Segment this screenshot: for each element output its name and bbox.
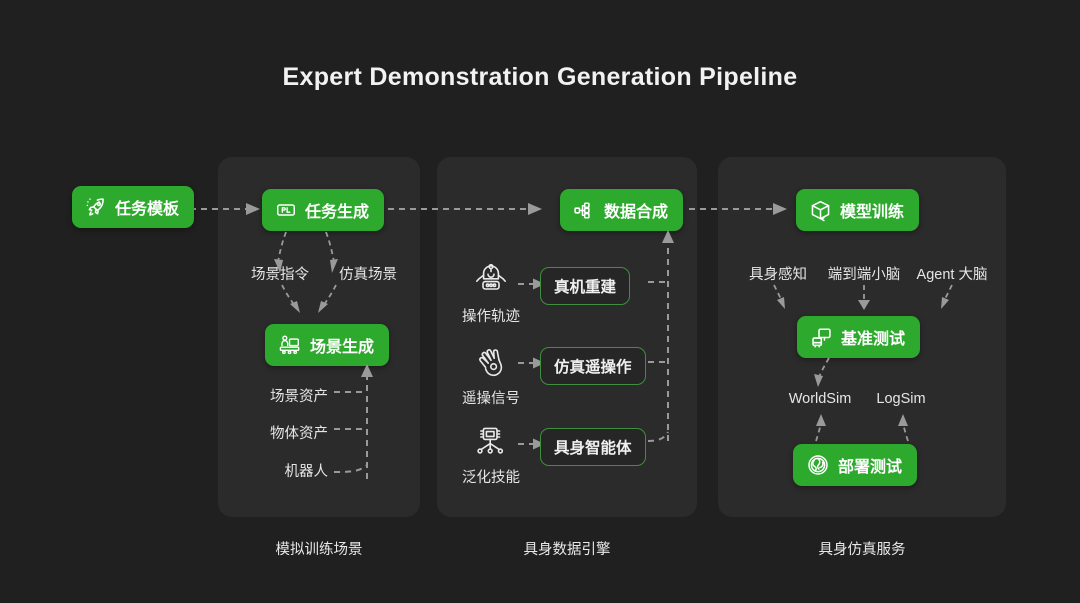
- caption-column-2: 具身数据引擎: [437, 538, 697, 559]
- pill-label: 部署测试: [838, 453, 902, 477]
- caption-column-3: 具身仿真服务: [718, 538, 1006, 559]
- label-generalization-skills: 泛化技能: [451, 466, 531, 487]
- benchmark-icon: [810, 326, 833, 349]
- pill-task-generation[interactable]: 任务生成: [262, 189, 384, 231]
- label-end-to-end-cerebellum: 端到端小脑: [818, 263, 910, 284]
- pill-deployment-test[interactable]: 部署测试: [793, 444, 917, 486]
- pill-label: 模型训练: [840, 198, 904, 222]
- caption-column-1: 模拟训练场景: [218, 538, 420, 559]
- box-simulated-teleoperation[interactable]: 仿真遥操作: [540, 347, 646, 385]
- box-label: 仿真遥操作: [554, 355, 632, 377]
- box-embodied-agent[interactable]: 具身智能体: [540, 428, 646, 466]
- scene-generation-icon: [278, 333, 302, 357]
- label-embodied-perception: 具身感知: [736, 263, 820, 284]
- box-real-machine-reconstruction[interactable]: 真机重建: [540, 267, 630, 305]
- label-simulation-scene: 仿真场景: [328, 263, 408, 284]
- pl-badge-icon: [275, 199, 297, 221]
- pill-label: 任务模板: [115, 195, 179, 219]
- agent-icon: [473, 425, 511, 463]
- data-synthesis-icon: [573, 199, 596, 222]
- label-scene-assets: 场景资产: [248, 385, 328, 406]
- label-scene-instruction: 场景指令: [240, 263, 320, 284]
- label-teleop-signal: 遥操信号: [451, 387, 531, 408]
- label-robot: 机器人: [248, 460, 328, 481]
- deploy-icon: [806, 453, 830, 477]
- pill-task-template[interactable]: 任务模板: [72, 186, 194, 228]
- page-title: Expert Demonstration Generation Pipeline: [0, 63, 1080, 92]
- pill-label: 任务生成: [305, 198, 369, 222]
- pill-scene-generation[interactable]: 场景生成: [265, 324, 389, 366]
- pill-label: 数据合成: [604, 198, 668, 222]
- pill-label: 基准测试: [841, 325, 905, 349]
- label-agent-brain: Agent 大脑: [903, 263, 1001, 284]
- label-operation-trajectory: 操作轨迹: [451, 305, 531, 326]
- label-worldsim: WorldSim: [778, 391, 862, 407]
- pill-benchmark-test[interactable]: 基准测试: [797, 316, 920, 358]
- glove-icon: [471, 347, 511, 385]
- box-label: 具身智能体: [554, 436, 632, 458]
- box-label: 真机重建: [554, 275, 616, 297]
- label-object-assets: 物体资产: [248, 422, 328, 443]
- cube-icon: [809, 199, 832, 222]
- pill-label: 场景生成: [310, 333, 374, 357]
- rocket-icon: [85, 196, 107, 218]
- robot-icon: [471, 261, 511, 301]
- label-logsim: LogSim: [866, 391, 936, 407]
- pill-model-training[interactable]: 模型训练: [796, 189, 919, 231]
- pill-data-synthesis[interactable]: 数据合成: [560, 189, 683, 231]
